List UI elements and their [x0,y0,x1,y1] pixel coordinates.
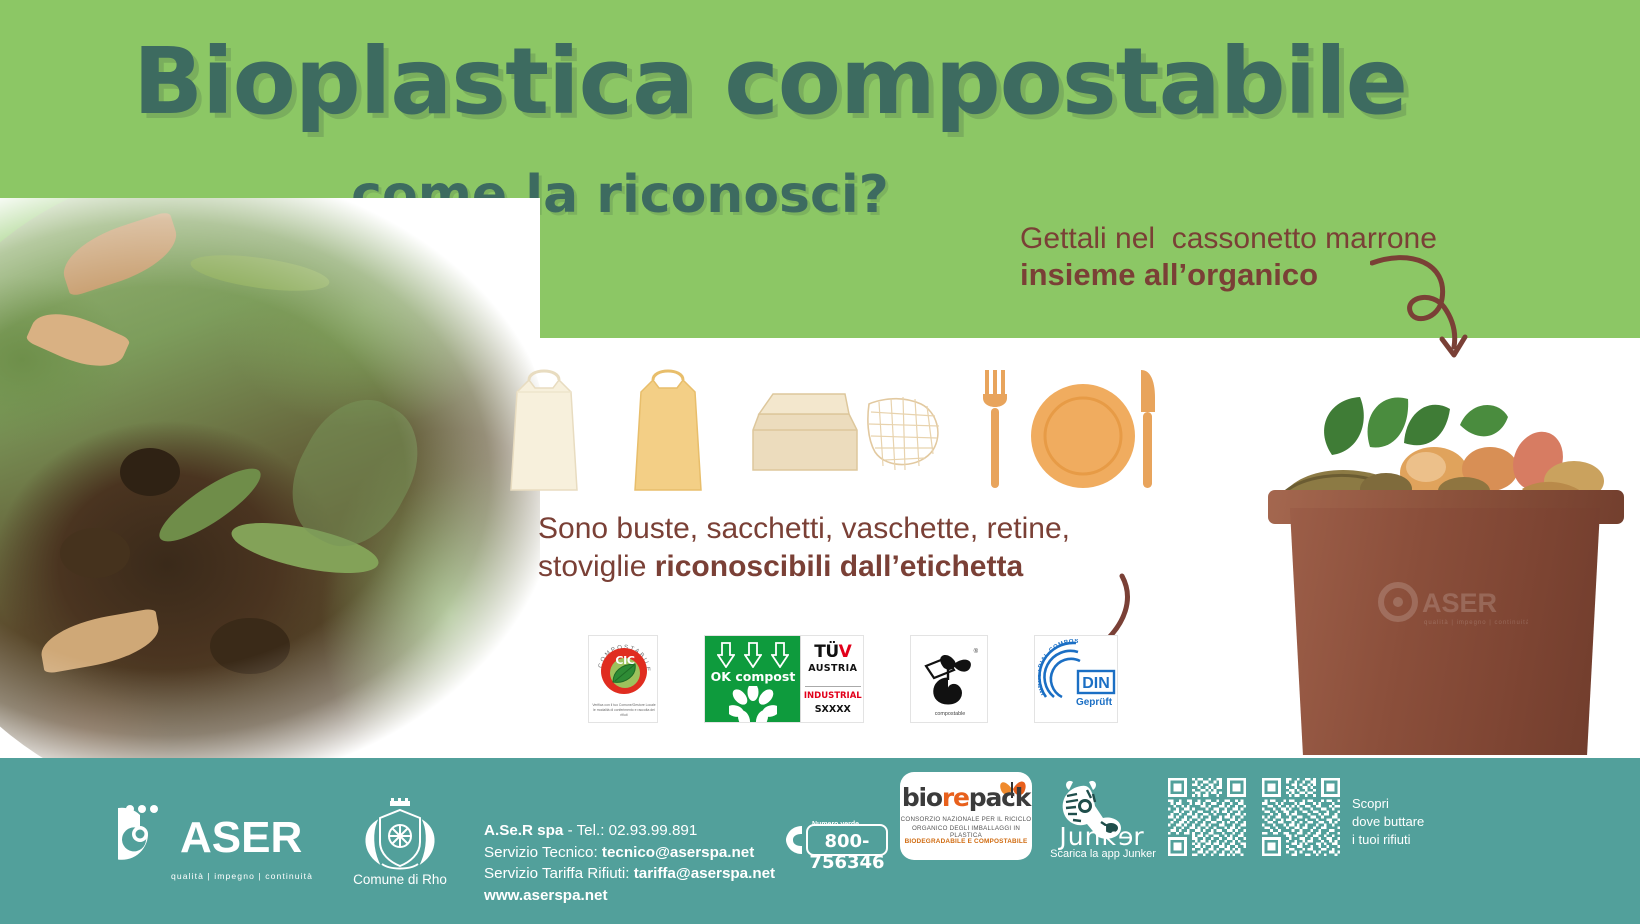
svg-text:qualità | impegno | continuità: qualità | impegno | continuità [1424,620,1528,626]
biorepack-wordmark: biorepack [900,783,1032,812]
numero-verde-label: Numero verde [812,821,859,828]
compost-photo [0,198,540,758]
certificate-code: SXXXX [801,704,864,715]
comune-label: Comune di Rho [340,872,460,887]
biorepack-logo[interactable]: biorepack CONSORZIO NAZIONALE PER IL RIC… [900,772,1032,860]
food-container-icon [753,394,857,470]
seedling-caption: compostable [911,711,988,717]
tuv-v-check: V [839,642,852,662]
contact-line-2: Servizio Tecnico: tecnico@aserspa.net [484,842,775,864]
bio-part1: bio [902,783,942,812]
tech-label: Servizio Tecnico: [484,844,602,861]
flower-icon [729,686,777,723]
aser-logo-on-bin-icon: ASER qualità | impegno | continuità [1378,580,1528,628]
cic-footnote: Verifica con il tuo Comune/Gestore Local… [592,703,656,718]
phone-handset-icon [784,824,806,856]
bin-body [1280,508,1610,755]
scopri-line1: Scopri [1352,795,1424,813]
seedling-compostable-badge[interactable]: ® compostable [910,635,988,723]
knife-icon [1141,370,1155,488]
company-phone: - Tel.: 02.93.99.891 [563,822,697,839]
bio-part2: re [942,783,969,812]
ok-compost-panel: OK compost [705,636,800,723]
ok-compost-tuv-austria-badge[interactable]: OK compost TÜV AUSTRIA [704,635,864,723]
scopri-line2: dove buttare [1352,813,1424,831]
website-link[interactable]: www.aserspa.net [484,887,608,904]
tuv-text: TÜV [801,642,864,662]
svg-text:DIN: DIN [1082,675,1110,692]
page-title: Bioplastica compostabile [0,36,1540,128]
numero-verde[interactable]: Numero verde 800-756346 [784,818,888,860]
industrial-text: INDUSTRIAL [801,691,864,701]
fork-icon [983,370,1007,488]
shopping-bag-white-icon [511,371,577,490]
biorepack-line3: BIODEGRADABILE E COMPOSTABILE [900,838,1032,845]
ok-compost-label: OK compost [705,669,801,684]
tuv-austria-panel: TÜV AUSTRIA INDUSTRIAL SXXXX [800,636,863,723]
austria-text: AUSTRIA [801,663,864,674]
scopri-line3: i tuoi rifiuti [1352,831,1424,849]
cic-compostabile-badge[interactable]: COMPOSTABILE CIC Verifica con il tuo Com… [588,635,658,723]
contact-info: A.Se.R spa - Tel.: 02.93.99.891 Servizio… [484,820,775,906]
down-arrows-icon [713,642,793,668]
plate-icon [1031,384,1135,488]
biorepack-line2: ORGANICO DEGLI IMBALLAGGI IN PLASTICA [900,825,1032,839]
tariff-label: Servizio Tariffa Rifiuti: [484,865,634,882]
din-mark-icon: DIN Geprüft INDUSTRIAL COMPOSTABLE [1038,639,1116,721]
din-geprueft-industrial-compostable-badge[interactable]: DIN Geprüft INDUSTRIAL COMPOSTABLE [1034,635,1118,723]
junker-wordmark: Junker [1040,822,1164,851]
company-name: A.Se.R spa [484,822,563,839]
compostable-items-row [505,352,1165,497]
contact-line-1: A.Se.R spa - Tel.: 02.93.99.891 [484,820,775,842]
biorepack-line1: CONSORZIO NAZIONALE PER IL RICICLO [900,816,1032,823]
svg-text:Geprüft: Geprüft [1076,697,1113,708]
seedling-icon [924,650,976,706]
qr-code-right[interactable] [1262,778,1340,856]
numero-verde-number: 800-756346 [808,831,886,873]
tariff-email[interactable]: tariffa@aserspa.net [634,865,775,882]
shopping-bag-yellow-icon [635,371,701,490]
divider [805,686,861,687]
contact-line-3: Servizio Tariffa Rifiuti: tariffa@asersp… [484,863,775,885]
cic-label: CIC [610,654,640,667]
photo-fade-mask [0,198,540,758]
contact-line-4: www.aserspa.net [484,885,775,907]
svg-text:ASER: ASER [1422,588,1497,618]
scopri-text: Scopri dove buttare i tuoi rifiuti [1352,795,1424,849]
bio-part3: pack [969,783,1030,812]
junker-subtitle: Scarica la app Junker [1030,848,1176,860]
aser-claim: qualità | impegno | continuità [168,871,316,881]
aser-logo-icon: ASER [118,800,314,862]
tuv-mark: TÜV AUSTRIA [801,642,864,674]
svg-text:ASER: ASER [180,813,302,862]
svg-text:INDUSTRIAL COMPOSTABLE: INDUSTRIAL COMPOSTABLE [1038,639,1079,696]
certification-badges: COMPOSTABILE CIC Verifica con il tuo Com… [588,635,1164,723]
comune-di-rho-crest-icon [352,798,448,872]
poster-root: Bioplastica compostabile come la riconos… [0,0,1640,924]
bin-note-line1: Gettali nel cassonetto marrone [1020,222,1540,257]
description-bold: riconoscibili dall’etichetta [655,550,1023,583]
mesh-net-bag-icon [868,397,939,470]
tech-email[interactable]: tecnico@aserspa.net [602,844,754,861]
registered-mark: ® [974,649,978,655]
brown-bin-photo: ASER qualità | impegno | continuità [1260,330,1640,755]
qr-code-left[interactable] [1168,778,1246,856]
